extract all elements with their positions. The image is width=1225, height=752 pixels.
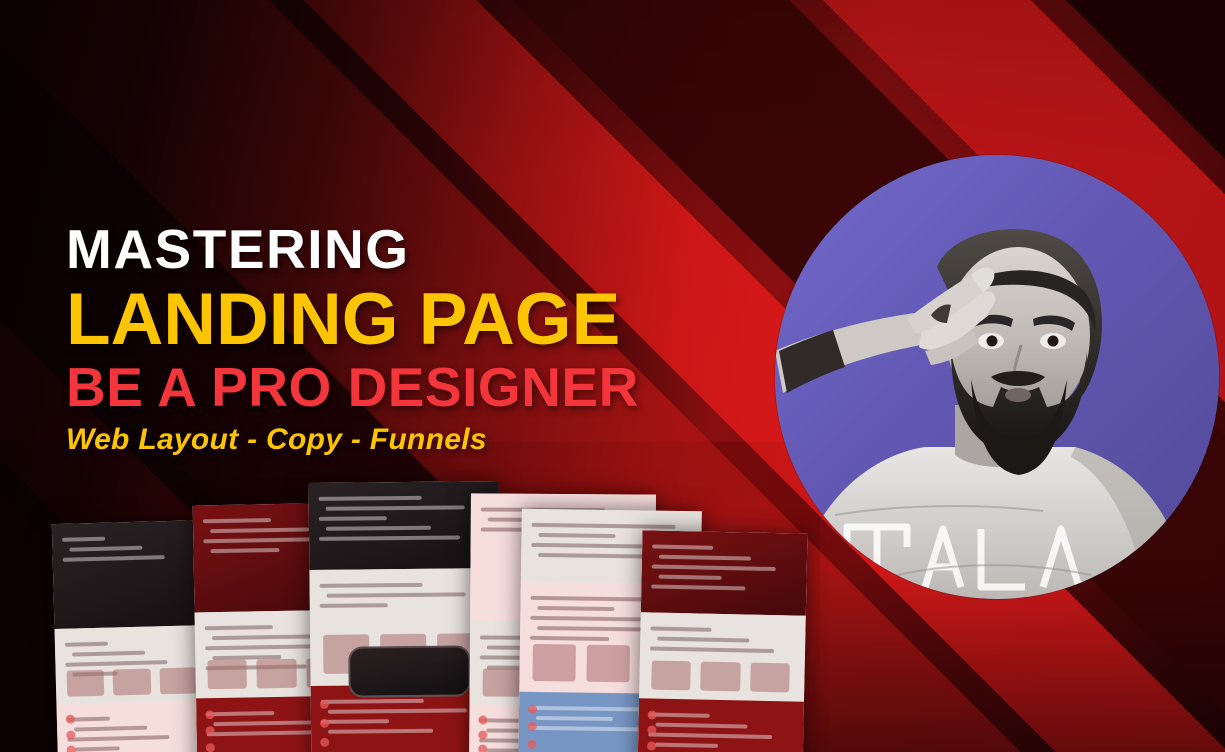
mockup-text-line	[203, 518, 271, 523]
mockup-text-line	[319, 516, 387, 521]
mockup-section	[55, 625, 212, 704]
mockup-text-line	[319, 535, 460, 540]
mockup-text-line	[320, 583, 423, 588]
mockup-text-line	[652, 545, 713, 550]
headline-line-1: MASTERING	[66, 222, 766, 277]
mockup-text-line	[65, 642, 108, 647]
mockup-bullet-dot	[527, 739, 536, 748]
mockup-bullet-dot	[478, 745, 487, 752]
mockup-bullet-dot	[648, 710, 657, 719]
mockup-text-line	[63, 555, 165, 562]
mockup-text-line	[649, 712, 710, 717]
mockup-text-line	[530, 636, 609, 641]
mockup-text-line	[531, 543, 643, 549]
mockup-text-line	[69, 546, 142, 552]
mockup-text-line	[532, 523, 676, 529]
mockup-text-line	[212, 635, 311, 641]
mockup-text-line	[327, 592, 466, 597]
mockup-thumbnail	[586, 645, 630, 683]
mockup-bullet-dot	[320, 719, 329, 728]
mockup-text-line	[529, 726, 641, 732]
mockup-text-line	[648, 732, 772, 739]
mockup-text-line	[657, 636, 749, 642]
mockup-text-line	[659, 555, 751, 561]
mockup-text-line	[326, 505, 465, 510]
mockup-thumbnail	[159, 667, 197, 693]
thumbnail-canvas: MASTERING LANDING PAGE BE A PRO DESIGNER…	[0, 0, 1225, 752]
mockup-text-line	[328, 729, 433, 734]
mockup-text-line	[328, 708, 467, 713]
mockup-bullet-dot	[67, 746, 76, 752]
mockup-bullet-dot	[205, 710, 214, 719]
mockup-thumbnail	[532, 644, 576, 682]
mockup-text-line	[72, 651, 145, 657]
headline-subtitle: Web Layout - Copy - Funnels	[66, 425, 766, 455]
headline-block: MASTERING LANDING PAGE BE A PRO DESIGNER…	[66, 222, 766, 455]
headline-line-3: BE A PRO DESIGNER	[66, 360, 766, 415]
mockup-text-line	[655, 743, 718, 748]
mockup-text-line	[213, 720, 312, 726]
mockup-text-line	[205, 625, 273, 630]
mockup-thumbnail	[700, 662, 740, 692]
mockup-bullet-dot	[320, 700, 329, 709]
mockup-text-line	[538, 533, 615, 538]
mockup-text-line	[651, 584, 745, 590]
mockup-screen	[52, 520, 213, 752]
mockup-text-line	[650, 646, 774, 653]
mockup-text-line	[74, 726, 147, 732]
mockup-text-line	[65, 660, 167, 667]
mockup-text-line	[210, 527, 309, 533]
mockup-thumbnail	[207, 660, 247, 690]
presenter-portrait	[775, 155, 1219, 599]
mockup-thumbnail	[66, 670, 104, 696]
mockup-text-line	[75, 746, 120, 751]
mockup-product-device	[348, 646, 470, 698]
mockup-bullet-dot	[320, 738, 329, 747]
mockup-text-line	[659, 575, 722, 580]
mockup-bullet-dot	[528, 705, 537, 714]
mockup-section	[639, 612, 806, 702]
mockup-text-line	[321, 719, 389, 724]
mockup-text-line	[321, 699, 424, 704]
mockup-text-line	[326, 526, 431, 531]
mockup-bullet-dot	[478, 715, 487, 724]
mockup-section	[641, 530, 808, 615]
mockup-text-line	[650, 626, 711, 631]
mockup-section	[52, 520, 210, 629]
mockup-bullet-dot	[66, 715, 75, 724]
mockup-section	[56, 700, 213, 752]
mockup-thumbnail	[113, 669, 151, 695]
mockup-text-line	[319, 496, 422, 501]
mockup-thumbnail	[750, 663, 790, 693]
mockup-text-line	[537, 606, 614, 611]
mockup-bullet-dot	[206, 743, 215, 752]
mockup-text-line	[67, 735, 169, 742]
mockup-text-line	[655, 723, 747, 729]
mockup-text-line	[536, 716, 613, 721]
mockup-text-line	[530, 616, 642, 622]
mockup-bullet-dot	[647, 742, 656, 751]
presenter-photo	[775, 155, 1219, 599]
mockup-text-line	[652, 565, 776, 572]
mockup-thumbnail	[256, 659, 296, 689]
mockup-bullet-dot	[478, 730, 487, 739]
mockup-text-line	[320, 603, 388, 608]
headline-line-2: LANDING PAGE	[66, 283, 766, 356]
mockup-section	[638, 698, 804, 752]
mockup-thumbnail	[651, 661, 691, 691]
mockup-text-line	[206, 711, 274, 716]
mockup-screen	[638, 530, 808, 752]
mockup-text-line	[62, 537, 105, 542]
mockup-bullet-dot	[66, 730, 75, 739]
mockup-text-line	[210, 548, 279, 553]
